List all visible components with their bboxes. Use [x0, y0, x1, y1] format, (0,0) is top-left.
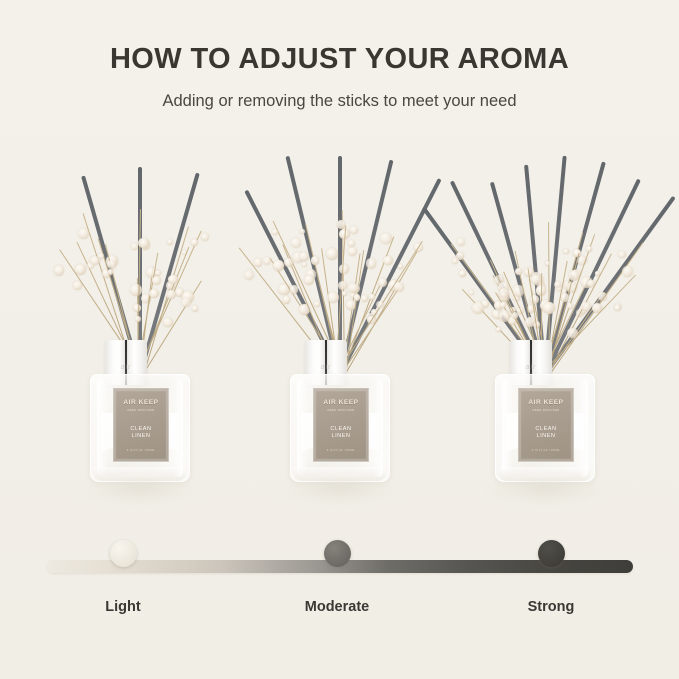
flower-bloom [614, 305, 620, 311]
flower-bloom [314, 301, 320, 307]
flower-bloom [78, 228, 89, 239]
label-scent: CLEANLINEN [535, 426, 556, 441]
flower-bloom [388, 280, 400, 292]
flower-bloom [513, 295, 520, 302]
diffuser-bottle: AIR KEEPREED DIFFUSERCLEANLINEN6.76 FL.O… [495, 374, 595, 482]
flower-bloom [414, 243, 423, 252]
collar-emboss-text: air [305, 364, 347, 371]
flower-bloom [149, 289, 158, 298]
dried-flowers [435, 110, 655, 375]
flower-bloom [457, 238, 465, 246]
product-row: airAIR KEEPREED DIFFUSERCLEANLINEN6.76 F… [0, 110, 679, 510]
flower-bloom [131, 243, 138, 250]
flower-bloom [556, 286, 562, 292]
reed-arrangement [230, 110, 450, 375]
flower-bloom [54, 265, 65, 276]
collar-emboss-text: air [105, 364, 147, 371]
flower-bloom [182, 291, 193, 302]
flower-bloom [272, 229, 278, 235]
flower-bloom [304, 275, 314, 285]
flower-bloom [361, 295, 368, 302]
label-brand: AIR KEEP [123, 400, 158, 407]
flower-bloom [73, 281, 82, 290]
flower-bloom [459, 270, 466, 277]
label-tagline: REED DIFFUSER [327, 409, 354, 412]
reed-arrangement [30, 110, 250, 375]
intensity-slider[interactable]: Light Moderate Strong [0, 528, 679, 648]
flower-bloom [563, 249, 568, 254]
flower-bloom [244, 270, 254, 280]
flower-bloom [191, 239, 198, 246]
flower-bloom [567, 303, 573, 309]
flower-bloom [383, 256, 392, 265]
flower-bloom [254, 258, 263, 267]
bottle-base [94, 467, 186, 481]
flower-bloom [181, 298, 191, 308]
flower-bloom [545, 261, 550, 266]
page-title: HOW TO ADJUST YOUR AROMA [0, 44, 679, 76]
bottle-reflection [78, 480, 202, 506]
slider-label-strong: Strong [481, 600, 621, 615]
flower-bloom [192, 305, 199, 312]
flower-bloom [579, 306, 587, 314]
collar-emboss-text: air [510, 364, 552, 371]
reed-arrangement [435, 110, 655, 375]
bottle-base [499, 467, 591, 481]
flower-bloom [299, 252, 309, 262]
flower-bloom [469, 290, 474, 295]
bottle-base [294, 467, 386, 481]
label-fineprint: 6.76 FL.OZ / 200ML [114, 449, 168, 452]
flower-bloom [348, 283, 357, 292]
reed-stick [138, 173, 200, 376]
flower-bloom [496, 327, 501, 332]
flower-bloom [394, 282, 404, 292]
flower-bloom [500, 302, 507, 309]
flower-bloom [348, 240, 356, 248]
diffuser-bottle: AIR KEEPREED DIFFUSERCLEANLINEN6.76 FL.O… [90, 374, 190, 482]
flower-bloom [618, 251, 625, 258]
slider-label-moderate: Moderate [267, 600, 407, 615]
infographic-canvas: HOW TO ADJUST YOUR AROMA Adding or remov… [0, 0, 679, 679]
flower-bloom [472, 302, 484, 314]
page-subtitle: Adding or removing the sticks to meet yo… [0, 92, 679, 110]
label-fineprint: 6.76 FL.OZ / 200ML [314, 449, 368, 452]
flower-bloom [175, 288, 185, 298]
diffuser-bottle: AIR KEEPREED DIFFUSERCLEANLINEN6.76 FL.O… [290, 374, 390, 482]
flower-bloom [342, 291, 347, 296]
slider-knob-strong[interactable] [538, 540, 565, 567]
flower-bloom [327, 292, 339, 304]
flower-bloom [369, 294, 375, 300]
product-label: AIR KEEPREED DIFFUSERCLEANLINEN6.76 FL.O… [113, 388, 169, 462]
label-scent: CLEANLINEN [330, 426, 351, 441]
slider-knob-light[interactable] [110, 540, 137, 567]
flower-bloom [75, 264, 86, 275]
flower-bloom [87, 262, 94, 269]
flower-bloom [380, 233, 392, 245]
flower-bloom [167, 239, 173, 245]
reed-stick [543, 196, 675, 376]
label-brand: AIR KEEP [323, 400, 358, 407]
flower-bloom [141, 294, 151, 304]
flower-stem [143, 227, 189, 376]
flower-bloom [348, 247, 357, 256]
flower-bloom [166, 290, 176, 300]
product-label: AIR KEEPREED DIFFUSERCLEANLINEN6.76 FL.O… [313, 388, 369, 462]
bottle-reflection [278, 480, 402, 506]
flower-bloom [182, 250, 187, 255]
flower-bloom [90, 256, 100, 266]
flower-bloom [615, 303, 621, 309]
label-scent: CLEANLINEN [130, 426, 151, 441]
diffuser-moderate: airAIR KEEPREED DIFFUSERCLEANLINEN6.76 F… [230, 110, 450, 510]
flower-bloom [141, 240, 150, 249]
label-tagline: REED DIFFUSER [532, 409, 559, 412]
flower-bloom [586, 246, 592, 252]
product-label: AIR KEEPREED DIFFUSERCLEANLINEN6.76 FL.O… [518, 388, 574, 462]
flower-bloom [278, 284, 290, 296]
flower-bloom [524, 267, 534, 277]
flower-bloom [350, 292, 356, 298]
flower-bloom [326, 248, 338, 260]
flower-bloom [291, 238, 301, 248]
flower-bloom [398, 264, 403, 269]
flower-bloom [292, 252, 303, 263]
slider-knob-moderate[interactable] [324, 540, 351, 567]
flower-bloom [146, 267, 157, 278]
flower-bloom [263, 257, 271, 265]
flower-bloom [155, 270, 161, 276]
label-brand: AIR KEEP [528, 400, 563, 407]
diffuser-strong: airAIR KEEPREED DIFFUSERCLEANLINEN6.76 F… [435, 110, 655, 510]
flower-bloom [201, 233, 209, 241]
bottle-reflection [483, 480, 607, 506]
flower-bloom [163, 318, 173, 328]
label-tagline: REED DIFFUSER [127, 409, 154, 412]
slider-label-light: Light [53, 600, 193, 615]
label-fineprint: 6.76 FL.OZ / 200ML [519, 449, 573, 452]
heading-block: HOW TO ADJUST YOUR AROMA Adding or remov… [0, 44, 679, 110]
flower-bloom [152, 276, 161, 285]
flower-bloom [350, 226, 358, 234]
flower-bloom [283, 296, 291, 304]
diffuser-light: airAIR KEEPREED DIFFUSERCLEANLINEN6.76 F… [30, 110, 250, 510]
flower-bloom [302, 262, 307, 267]
